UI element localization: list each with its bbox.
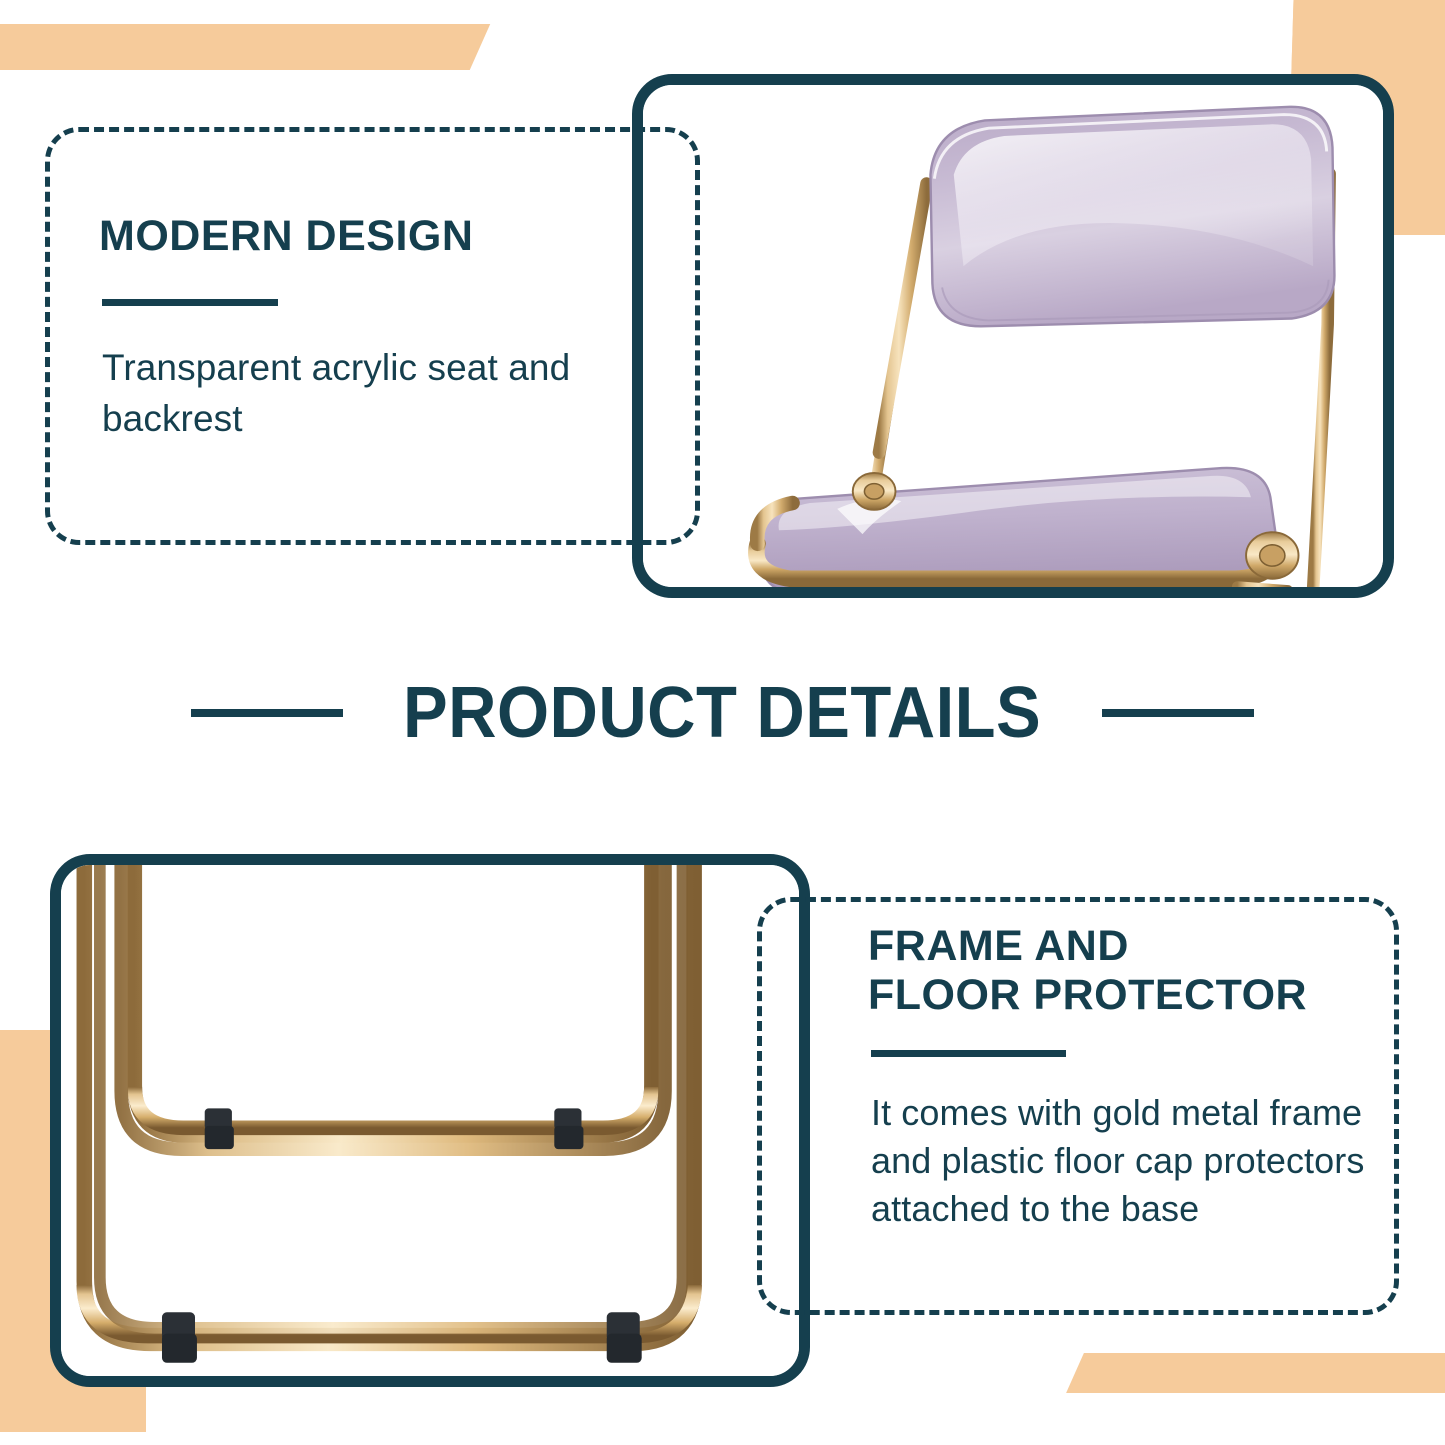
decor-band-top-left (0, 24, 490, 70)
chair-illustration (643, 85, 1383, 587)
title-divider (102, 299, 278, 306)
feature-title-line-1: FRAME AND (868, 922, 1380, 971)
feature-body-modern-design: Transparent acrylic seat and backrest (102, 343, 619, 444)
feature-title-modern-design: MODERN DESIGN (99, 212, 619, 261)
section-heading-label: PRODUCT DETAILS (403, 672, 1041, 754)
legs-illustration (61, 865, 799, 1376)
title-divider (871, 1050, 1066, 1057)
section-heading-product-details: PRODUCT DETAILS (0, 672, 1445, 754)
product-image-frame-legs (50, 854, 810, 1387)
heading-rule-left (191, 709, 343, 717)
feature-title-line-2: FLOOR PROTECTOR (868, 971, 1380, 1020)
feature-text-modern-design: MODERN DESIGN Transparent acrylic seat a… (99, 212, 619, 444)
product-image-chair-closeup (632, 74, 1394, 598)
feature-text-frame-floor-protector: FRAME AND FLOOR PROTECTOR It comes with … (868, 922, 1380, 1233)
decor-band-bottom-right (1066, 1353, 1445, 1393)
heading-rule-right (1102, 709, 1254, 717)
feature-body-frame-floor-protector: It comes with gold metal frame and plast… (871, 1089, 1380, 1233)
infographic-canvas: MODERN DESIGN Transparent acrylic seat a… (0, 0, 1445, 1445)
